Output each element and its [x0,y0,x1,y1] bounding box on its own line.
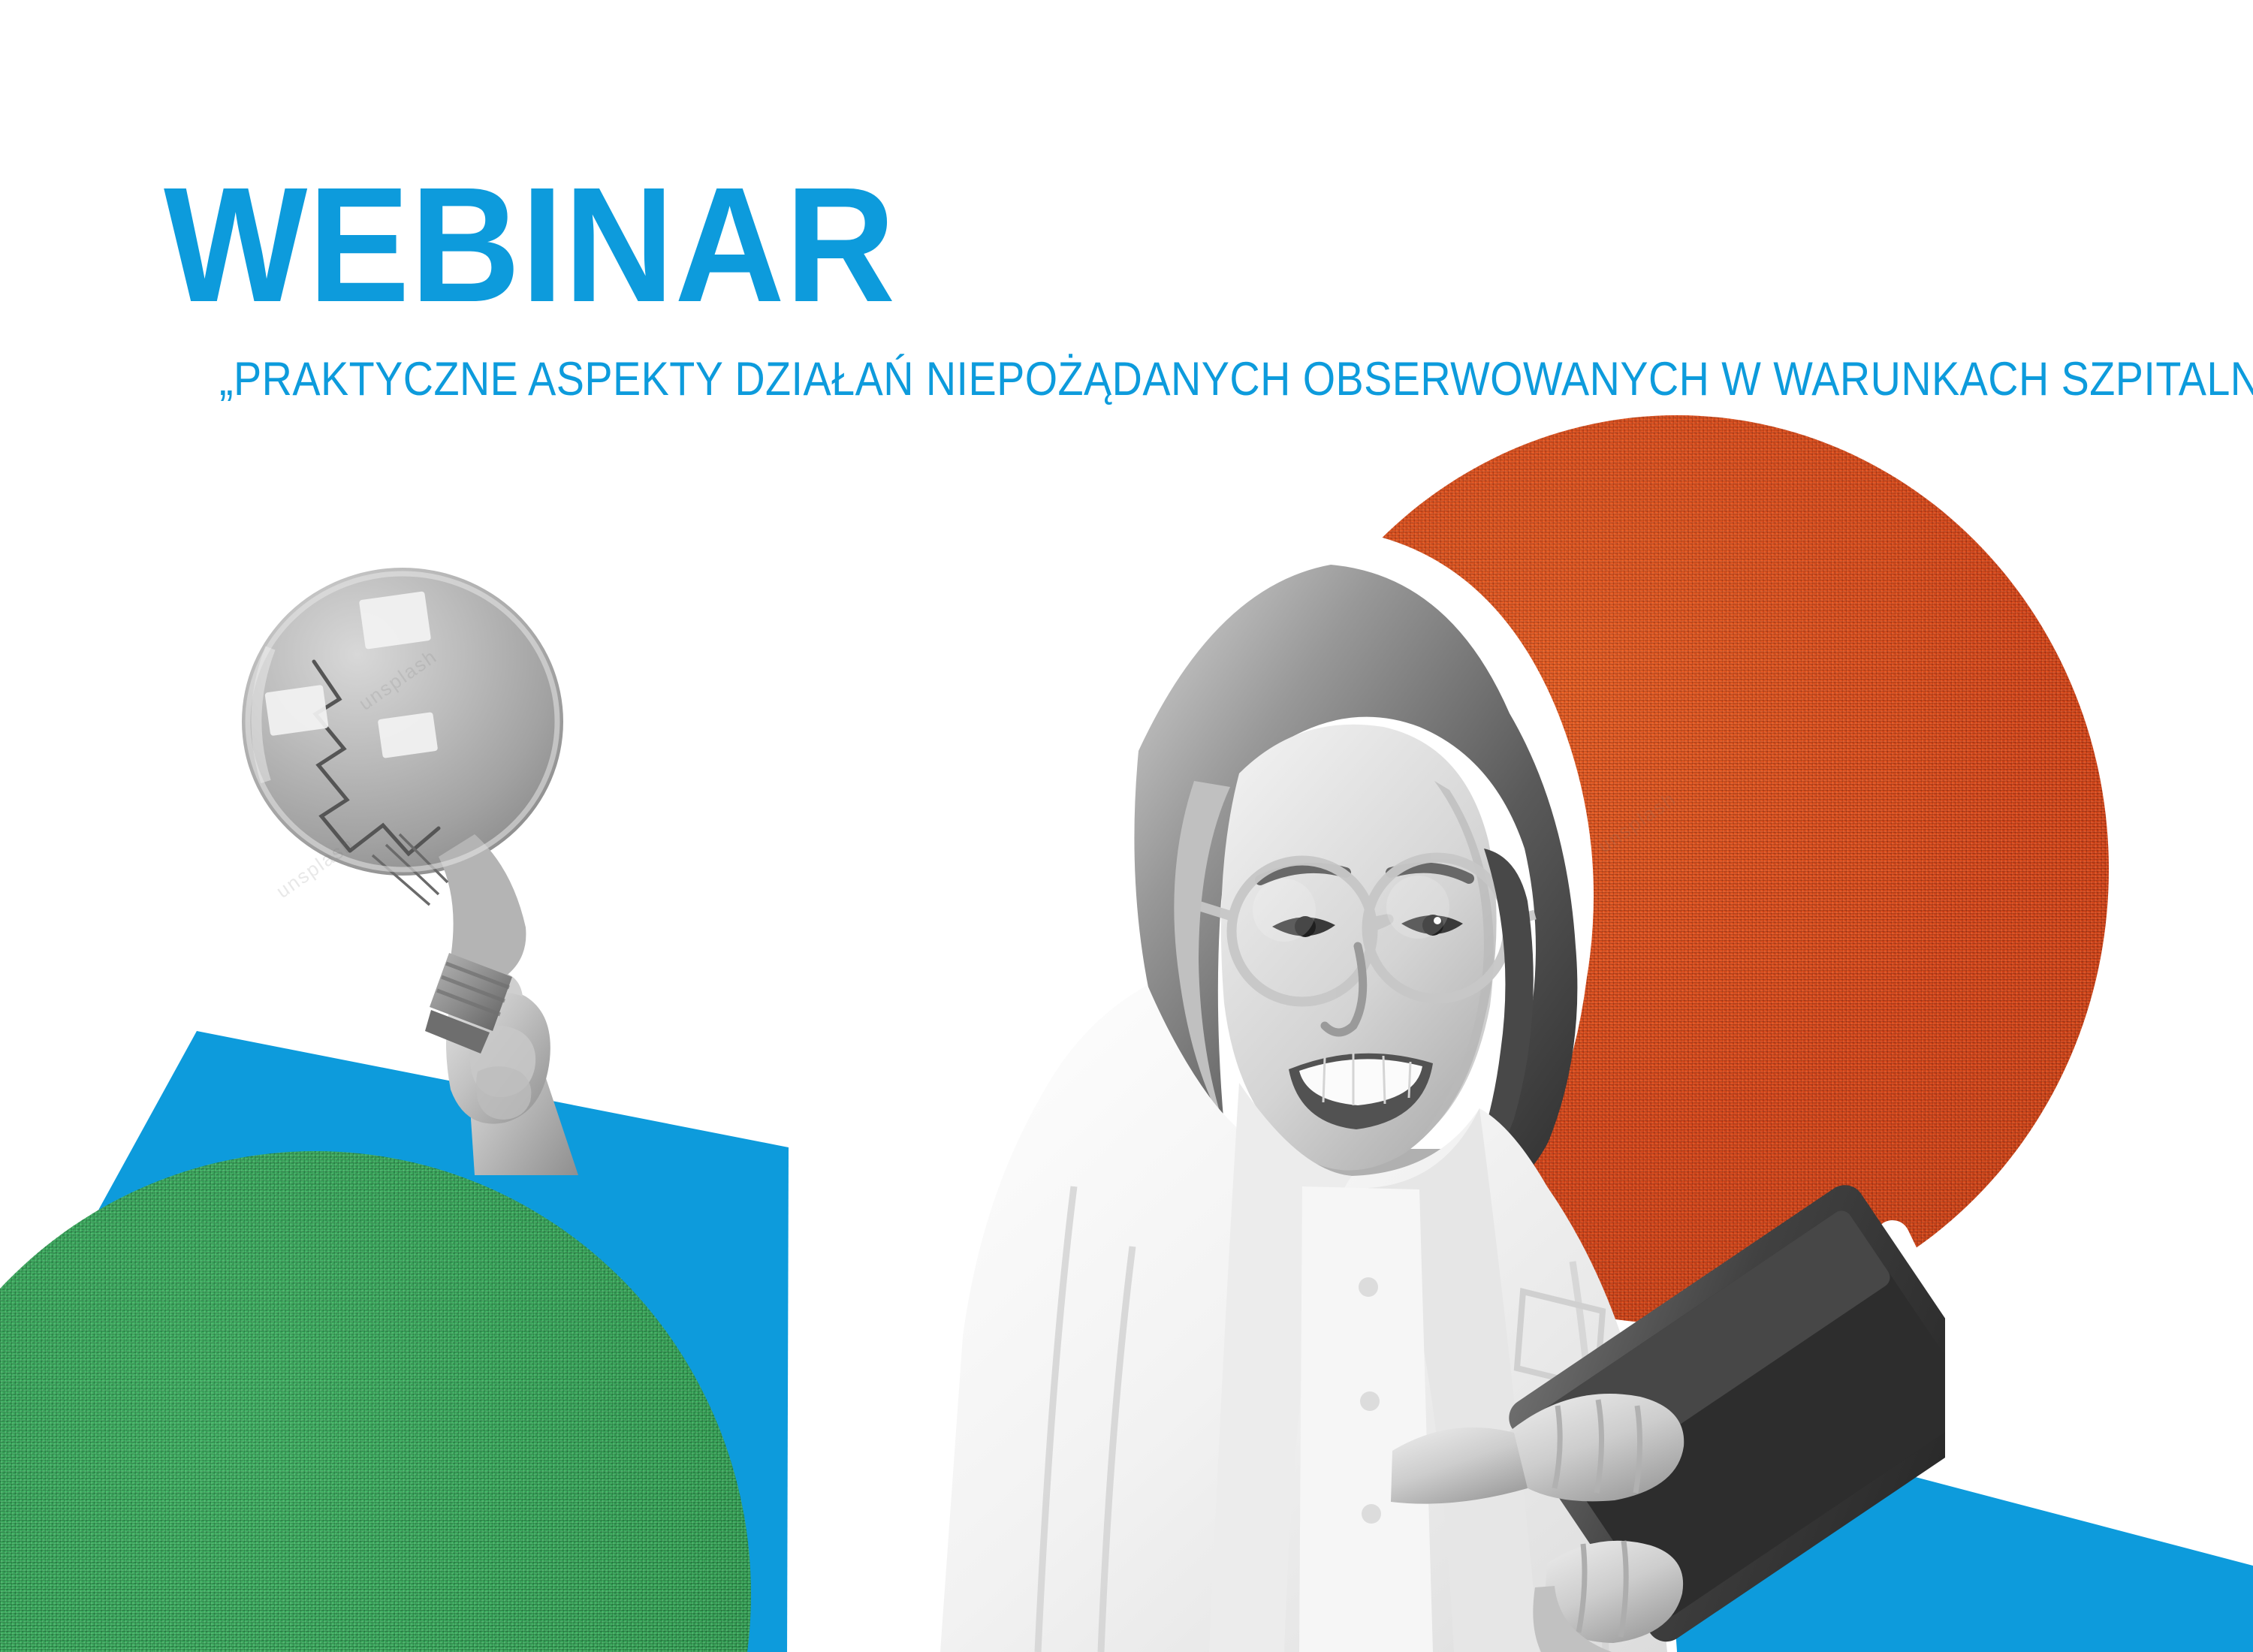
lightbulb-in-hand-photo [225,552,691,1175]
webinar-poster: unsplash unsplash [0,0,2253,1652]
page-subtitle: „PRAKTYCZNE ASPEKTY DZIAŁAŃ NIEPOŻĄDANYC… [219,356,2253,403]
doctor-with-tablet-photo [774,526,1945,1652]
page-title: WEBINAR [164,164,896,327]
